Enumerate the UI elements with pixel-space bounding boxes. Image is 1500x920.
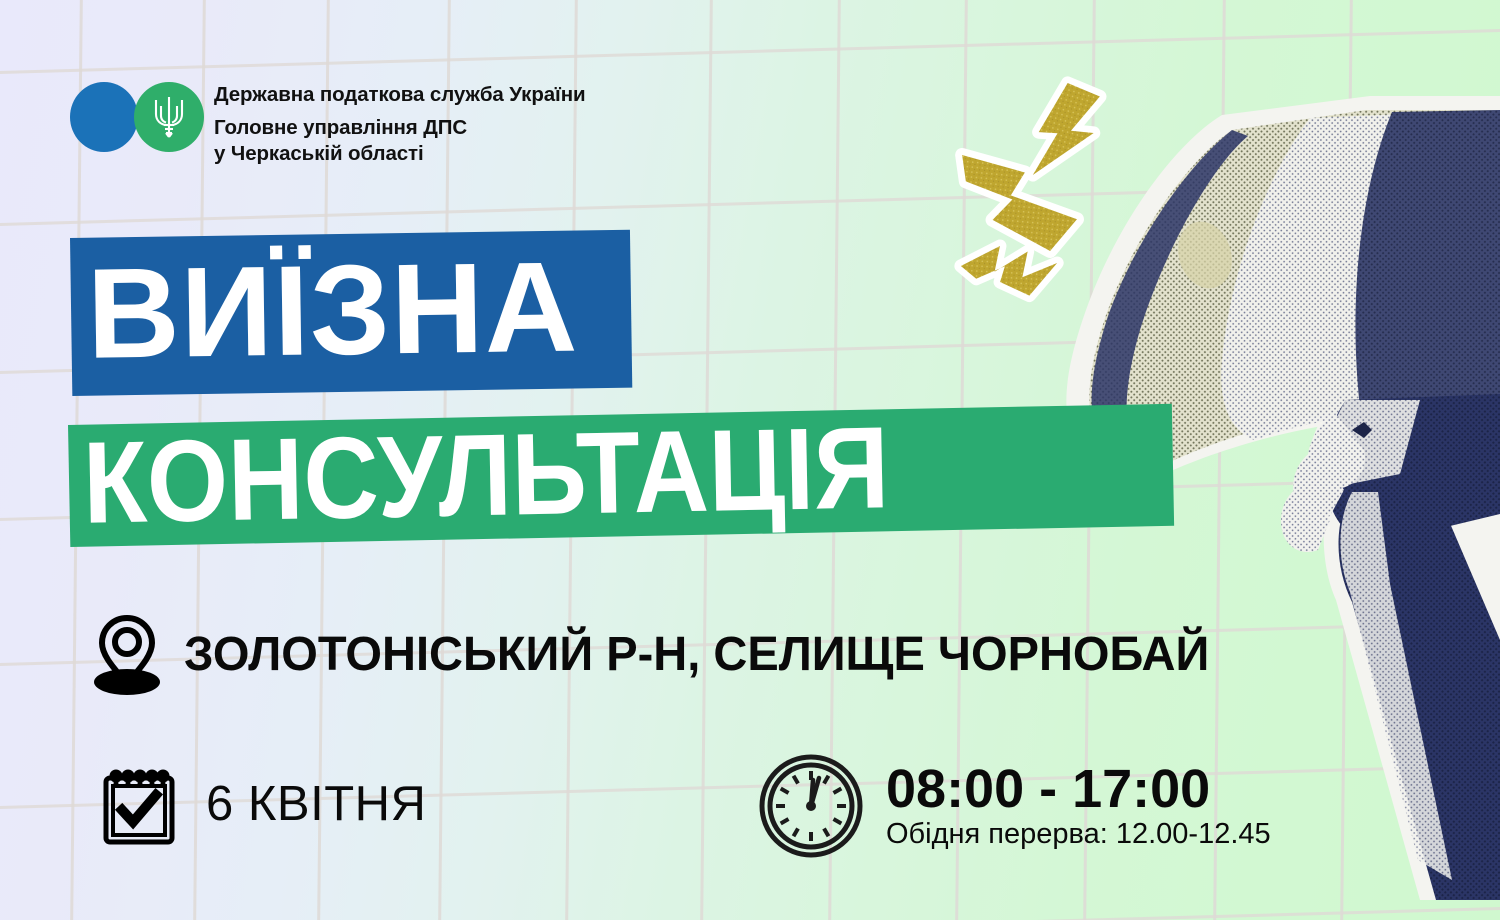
headline-band-secondary: КОНСУЛЬТАЦІЯ [68, 404, 1174, 547]
poster-canvas: Державна податкова служба України Головн… [0, 0, 1500, 920]
date-text: 6 КВІТНЯ [206, 776, 426, 832]
logo-marks [70, 82, 198, 154]
date-row: 6 КВІТНЯ [100, 762, 426, 846]
lunch-break-text: Обідня перерва: 12.00-12.45 [886, 819, 1271, 851]
lightning-bolt-1 [1027, 79, 1105, 188]
time-text-block: 08:00 - 17:00 Обідня перерва: 12.00-12.4… [886, 762, 1271, 851]
location-text: ЗОЛОТОНІСЬКИЙ Р-Н, СЕЛИЩЕ ЧОРНОБАЙ [184, 627, 1209, 682]
org-line-2: Головне управління ДПС [214, 115, 586, 141]
headline-band-primary: ВИЇЗНА [70, 230, 632, 396]
calendar-check-icon [100, 762, 178, 846]
map-pin-icon [92, 612, 162, 696]
trident-icon [152, 94, 186, 140]
time-range: 08:00 - 17:00 [886, 762, 1271, 817]
logo-green-circle [134, 82, 204, 152]
org-line-3: у Черкаській області [214, 141, 586, 167]
lightning-bolt-2 [954, 155, 1081, 253]
headline-line-1: ВИЇЗНА [86, 243, 579, 378]
lightning-bolt-3 [959, 244, 1057, 297]
location-row: ЗОЛОТОНІСЬКИЙ Р-Н, СЕЛИЩЕ ЧОРНОБАЙ [92, 612, 1230, 696]
headline-line-2: КОНСУЛЬТАЦІЯ [82, 409, 890, 540]
organization-text: Державна податкова служба України Головн… [214, 82, 586, 167]
clock-icon [758, 750, 864, 862]
logo-blue-circle [70, 82, 138, 152]
time-row: 08:00 - 17:00 Обідня перерва: 12.00-12.4… [758, 750, 1271, 862]
organization-logo-block: Державна податкова служба України Головн… [70, 82, 586, 167]
org-line-1: Державна податкова служба України [214, 84, 586, 106]
